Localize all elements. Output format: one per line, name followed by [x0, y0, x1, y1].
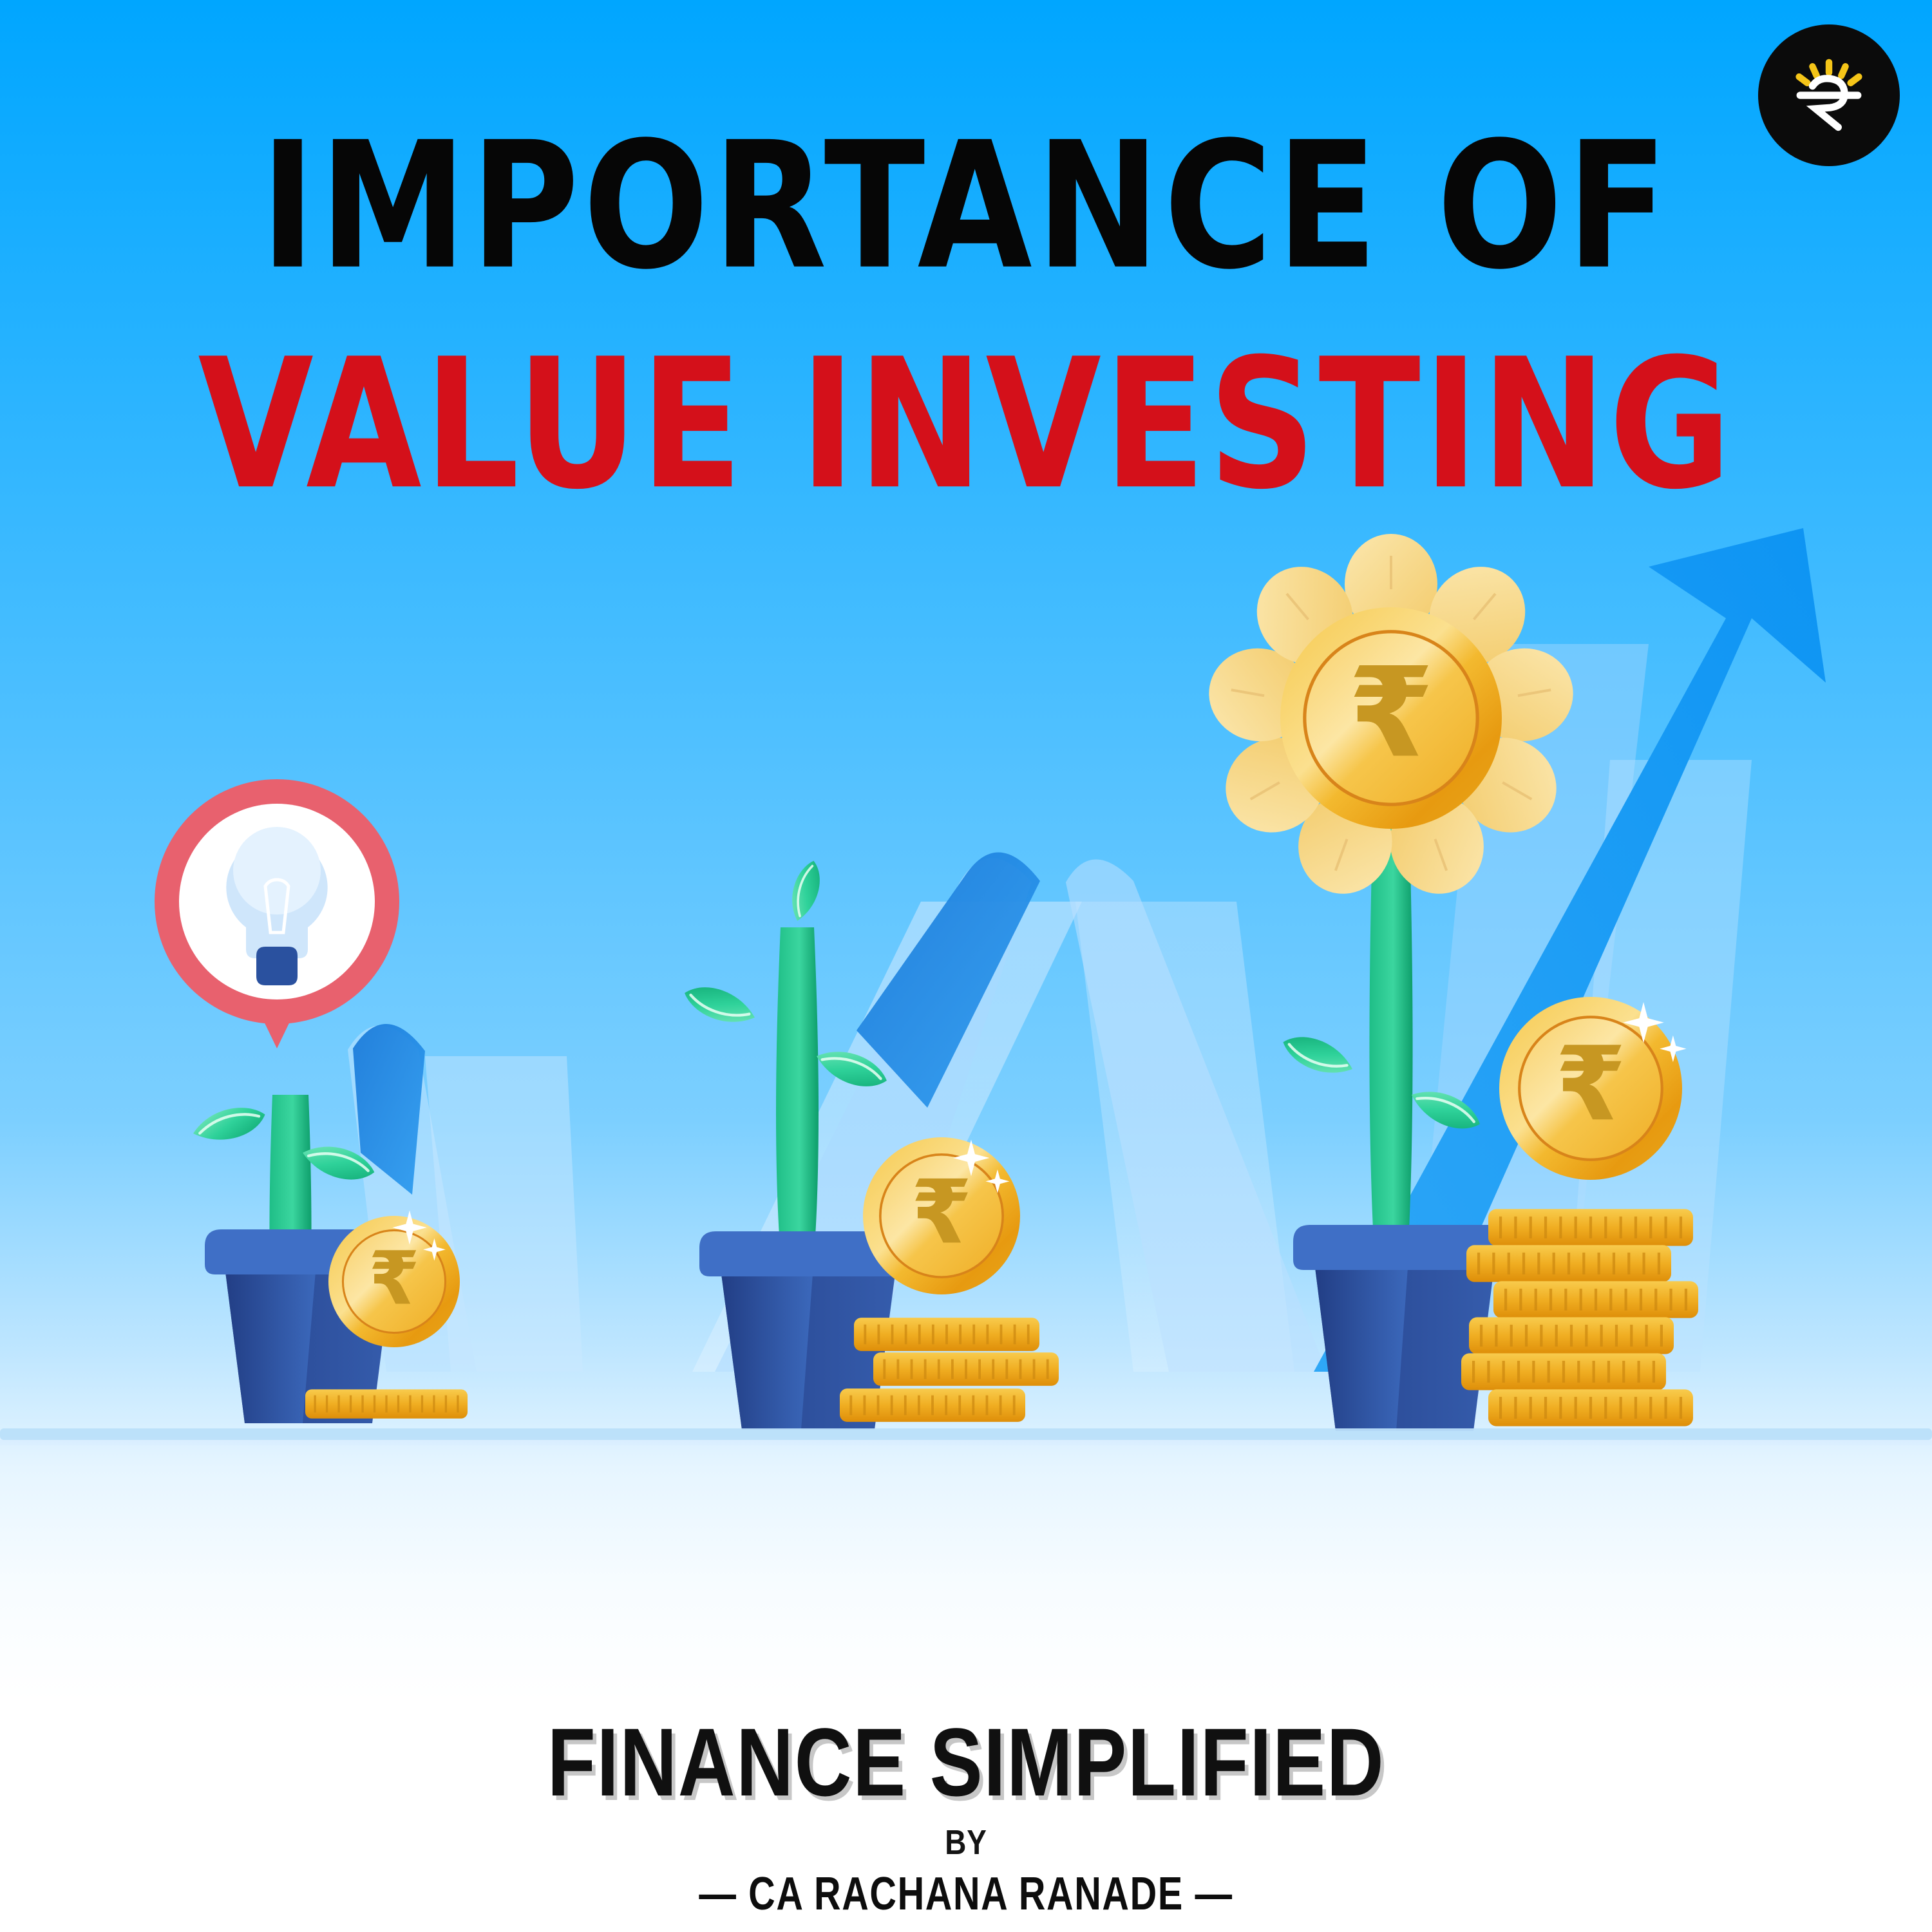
stage-seed — [155, 779, 468, 1423]
brand-title: FINANCE SIMPLIFIED — [174, 1707, 1758, 1818]
poster-canvas: IMPORTANCE OF VALUE INVESTING — [0, 0, 1932, 1932]
coin-stack — [1461, 1209, 1698, 1426]
scene-main — [155, 534, 1698, 1431]
leaf-icon — [1406, 1082, 1486, 1137]
leaf-icon — [786, 858, 826, 924]
leaf-icon — [189, 1100, 269, 1149]
by-label: BY — [145, 1823, 1787, 1862]
rupee-coin — [863, 1137, 1020, 1294]
leaf-icon — [680, 980, 760, 1030]
coin-stack-level — [305, 1389, 468, 1418]
stage-growth — [680, 858, 1059, 1430]
author-credit: — CA RACHANA RANADE — — [193, 1868, 1739, 1920]
leaf-icon — [811, 1043, 891, 1094]
flower-coin — [1202, 534, 1580, 907]
rupee-coin — [328, 1216, 460, 1347]
leaf-icon — [1278, 1029, 1358, 1082]
stage-maturity — [1202, 534, 1698, 1431]
floor-line — [0, 1428, 1932, 1445]
idea-bubble[interactable] — [155, 779, 399, 1048]
illustration: ₹ — [0, 0, 1932, 1932]
